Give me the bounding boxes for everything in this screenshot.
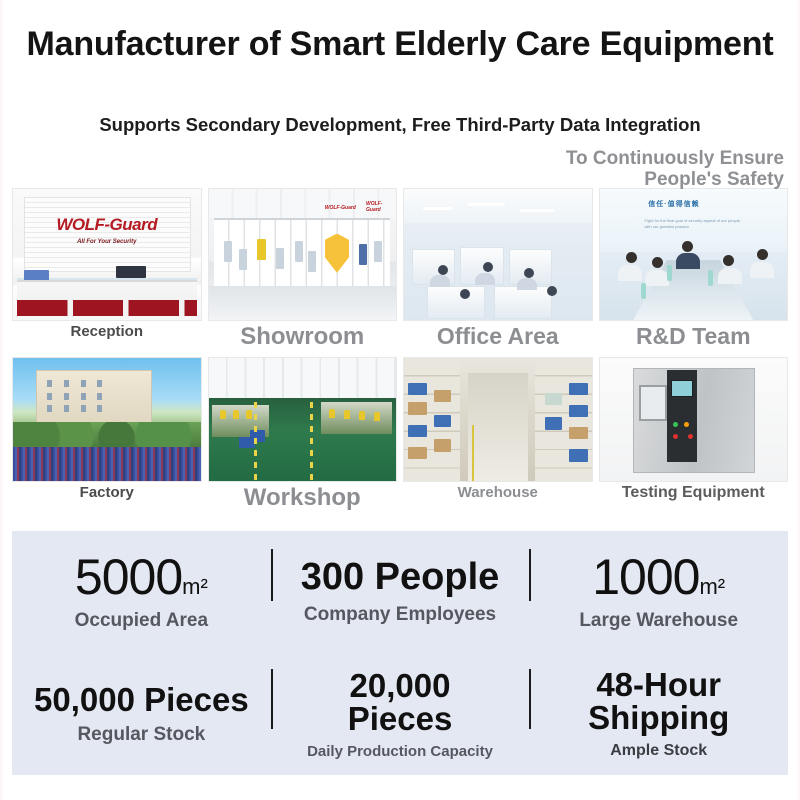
person-head [757, 249, 768, 260]
reception-photo[interactable]: WOLF-Guard All For Your Security [12, 188, 202, 321]
ceiling-light [423, 207, 453, 210]
stat-label: Occupied Area [75, 610, 208, 632]
desk-red-band [17, 300, 197, 316]
storage-box [545, 417, 562, 429]
cubicle-partition [494, 286, 552, 319]
worker [344, 410, 350, 419]
ceiling [404, 189, 592, 223]
wolf-guard-logo: WOLF-Guard [51, 215, 164, 235]
display-item [224, 241, 232, 262]
gallery-caption: Reception [70, 324, 143, 340]
gallery-caption: Office Area [437, 324, 559, 348]
stat-number: 5000 [75, 549, 182, 605]
employee [460, 289, 470, 299]
gallery-item-office-area[interactable]: Office Area [403, 188, 593, 349]
rnd-team-photo[interactable]: 信任·值得信赖 Fight for the final goal of secu… [599, 188, 789, 321]
storage-box [434, 415, 451, 427]
person-head [652, 257, 663, 268]
gallery-caption: Factory [80, 485, 134, 501]
stat-occupied-area: 5000m² Occupied Area [12, 531, 271, 653]
employee-body [430, 275, 450, 287]
worker [329, 409, 335, 418]
person-head [723, 255, 734, 266]
person-body [618, 265, 642, 281]
floor-marking [254, 402, 257, 481]
showroom-floor [209, 286, 397, 320]
person-body [645, 270, 669, 286]
worker [374, 412, 380, 421]
floor-marking [310, 402, 313, 481]
storage-box [569, 383, 588, 395]
gallery-row-1: WOLF-Guard All For Your Security Recepti… [12, 188, 788, 349]
poster-cn-text: 信任·值得信赖 [648, 199, 699, 209]
window [81, 405, 86, 412]
stat-value: 48-Hour Shipping [588, 668, 729, 734]
floor-marking [472, 425, 474, 482]
employee-body [475, 273, 495, 285]
stat-number-line2: Pieces [348, 702, 453, 735]
window [47, 405, 52, 412]
stat-label: Company Employees [304, 604, 496, 626]
panel-screen [671, 380, 694, 397]
display-item [374, 241, 382, 262]
monitor [116, 266, 146, 278]
assembly-line [321, 402, 392, 434]
gallery-item-testing-equipment[interactable]: Testing Equipment [599, 357, 789, 510]
stat-ample-stock: 48-Hour Shipping Ample Stock [529, 653, 788, 775]
gallery-caption: R&D Team [636, 324, 751, 348]
window [47, 380, 52, 387]
stat-label: Large Warehouse [579, 610, 738, 632]
stats-panel: 5000m² Occupied Area 300 People Company … [12, 531, 788, 775]
storage-box [434, 390, 451, 402]
chamber-door-window [639, 385, 667, 421]
stat-label: Daily Production Capacity [307, 743, 493, 760]
stats-row-1: 5000m² Occupied Area 300 People Company … [12, 531, 788, 653]
gallery-item-reception[interactable]: WOLF-Guard All For Your Security Recepti… [12, 188, 202, 349]
gallery-item-warehouse[interactable]: Warehouse [403, 357, 593, 510]
stat-number-line2: Shipping [588, 701, 729, 734]
facility-gallery: WOLF-Guard All For Your Security Recepti… [12, 188, 788, 510]
window [97, 380, 102, 387]
poster-en-text: Fight for the final goal of security app… [645, 218, 743, 230]
worker [359, 411, 365, 420]
storage-box [545, 393, 562, 405]
window [64, 380, 69, 387]
green-button [673, 422, 678, 427]
testing-equipment-photo[interactable] [599, 357, 789, 482]
person-body [718, 268, 742, 284]
storage-box [569, 427, 588, 439]
water-bottle [667, 265, 672, 281]
display-item [359, 244, 367, 265]
worker [233, 410, 239, 419]
display-item [276, 248, 284, 269]
employee [438, 265, 448, 275]
stat-regular-stock: 50,000 Pieces Regular Stock [12, 653, 271, 775]
display-item [257, 239, 265, 260]
factory-photo[interactable] [12, 357, 202, 482]
gallery-item-rnd-team[interactable]: 信任·值得信赖 Fight for the final goal of secu… [599, 188, 789, 349]
gallery-row-2: Factory [12, 357, 788, 510]
cubicle-partition [427, 286, 485, 319]
window [64, 393, 69, 400]
stat-label: Regular Stock [77, 724, 205, 746]
stat-number: 48-Hour [588, 668, 729, 701]
window [81, 393, 86, 400]
stat-number: 20,000 [348, 669, 453, 702]
water-bottle [641, 283, 646, 299]
stat-large-warehouse: 1000m² Large Warehouse [529, 531, 788, 653]
gallery-caption: Showroom [240, 324, 364, 349]
stat-value: 300 People [301, 558, 500, 596]
stat-value: 5000m² [75, 552, 208, 602]
stat-value: 20,000 Pieces [348, 669, 453, 735]
water-bottle [708, 270, 713, 286]
showroom-photo[interactable]: WOLF-Guard WOLF-Guard [208, 188, 398, 321]
workshop-photo[interactable] [208, 357, 398, 482]
gallery-item-showroom[interactable]: WOLF-Guard WOLF-Guard Showroom [208, 188, 398, 349]
person-body [676, 253, 700, 269]
display-item [295, 241, 303, 262]
gallery-caption: Warehouse [458, 485, 538, 501]
tree-line [13, 422, 201, 447]
page-subtitle: Supports Secondary Development, Free Thi… [0, 114, 800, 135]
display-item [239, 249, 247, 270]
promo-banner: Manufacturer of Smart Elderly Care Equip… [0, 0, 800, 800]
staff-group-photo [13, 447, 201, 481]
page-title: Manufacturer of Smart Elderly Care Equip… [0, 26, 800, 63]
worker [220, 410, 226, 419]
window [97, 393, 102, 400]
window [81, 380, 86, 387]
stat-number: 50,000 Pieces [34, 683, 249, 716]
gallery-caption: Workshop [244, 485, 361, 510]
orange-button [684, 422, 689, 427]
stat-number: 300 People [301, 556, 500, 598]
stat-number: 1000 [592, 549, 699, 605]
stat-company-employees: 300 People Company Employees [271, 531, 530, 653]
stat-unit: m² [182, 574, 208, 599]
person-head [626, 252, 637, 263]
storage-box [408, 383, 427, 395]
window [97, 405, 102, 412]
wolf-guard-logo-small: WOLF-Guard [366, 201, 396, 213]
stat-label: Ample Stock [610, 742, 707, 760]
wolf-guard-tagline: All For Your Security [51, 239, 164, 245]
employee [524, 268, 534, 278]
gallery-caption: Testing Equipment [622, 485, 765, 502]
stat-daily-production: 20,000 Pieces Daily Production Capacity [271, 653, 530, 775]
storage-box [569, 449, 588, 461]
ceiling [209, 358, 397, 397]
storage-rack [535, 358, 591, 481]
gallery-item-workshop[interactable]: Workshop [208, 357, 398, 510]
storage-box [408, 402, 427, 414]
employee-body [517, 278, 537, 290]
gallery-item-factory[interactable]: Factory [12, 357, 202, 510]
aisle [468, 373, 528, 481]
storage-box [408, 425, 427, 437]
stat-value: 50,000 Pieces [34, 683, 249, 716]
employee [547, 286, 557, 296]
window [64, 405, 69, 412]
ceiling-light [468, 203, 506, 206]
person-body [750, 262, 774, 278]
wolf-guard-logo-small: WOLF-Guard [325, 205, 356, 211]
overlay-slogan: To Continuously Ensure People's Safety [554, 148, 784, 191]
stat-value: 1000m² [592, 552, 725, 602]
office-area-photo[interactable] [403, 188, 593, 321]
stats-row-2: 50,000 Pieces Regular Stock 20,000 Piece… [12, 653, 788, 775]
ceiling-light [520, 209, 554, 212]
window [47, 393, 52, 400]
storage-box [434, 439, 451, 451]
stat-unit: m² [699, 574, 725, 599]
storage-box [408, 447, 427, 459]
storage-box [569, 405, 588, 417]
storage-rack [404, 358, 460, 481]
display-item [308, 251, 316, 272]
worker [246, 410, 252, 419]
warehouse-photo[interactable] [403, 357, 593, 482]
